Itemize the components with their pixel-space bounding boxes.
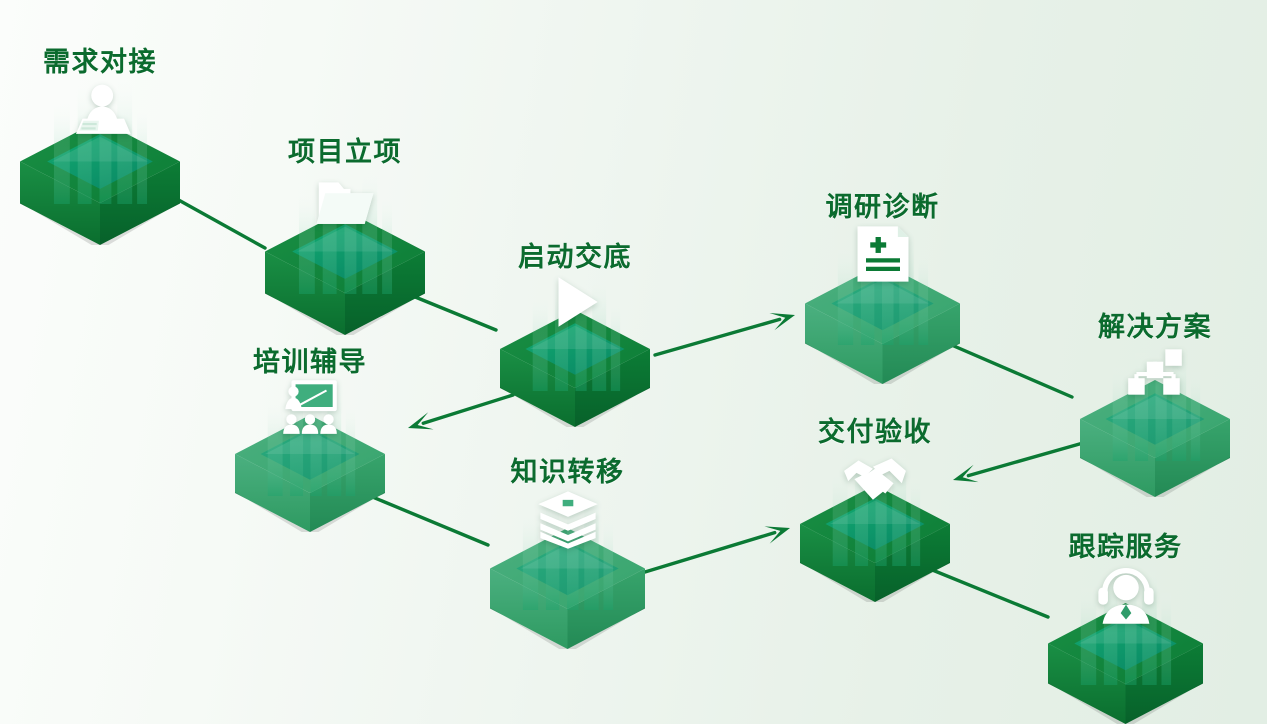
flow-node-project[interactable]: 项目立项	[265, 130, 425, 315]
flow-edge-kickoff-to-training	[408, 395, 513, 429]
books-icon	[534, 485, 602, 553]
flow-edge-demand-to-project	[175, 198, 265, 248]
classroom-icon	[277, 374, 343, 440]
folder-icon	[310, 167, 380, 237]
person-card-icon	[65, 77, 135, 147]
flow-node-training[interactable]: 培训辅导	[235, 340, 385, 517]
flow-edge-solution-to-delivery	[953, 443, 1083, 482]
flow-node-research[interactable]: 调研诊断	[805, 185, 960, 366]
report-plus-icon	[849, 220, 917, 288]
flow-node-label: 调研诊断	[826, 185, 940, 224]
flow-node-solution[interactable]: 解决方案	[1080, 305, 1230, 482]
flow-node-label: 跟踪服务	[1069, 525, 1183, 564]
flowchart-canvas: 需求对接	[0, 0, 1267, 724]
play-icon	[542, 269, 608, 335]
flow-node-knowledge[interactable]: 知识转移	[490, 450, 645, 631]
flow-node-kickoff[interactable]: 启动交底	[500, 235, 650, 412]
flow-edge-knowledge-to-delivery	[645, 526, 790, 572]
flow-edge-kickoff-to-research	[655, 313, 795, 355]
flow-node-demand[interactable]: 需求对接	[20, 40, 180, 225]
handshake-icon	[842, 444, 908, 510]
flow-node-label: 需求对接	[43, 40, 157, 79]
flow-node-delivery[interactable]: 交付验收	[800, 410, 950, 587]
flow-node-label: 知识转移	[511, 450, 625, 489]
flow-node-followup[interactable]: 跟踪服务	[1048, 525, 1203, 706]
flow-node-label: 项目立项	[288, 130, 402, 169]
headset-agent-icon	[1092, 560, 1160, 628]
sitemap-icon	[1122, 339, 1188, 405]
